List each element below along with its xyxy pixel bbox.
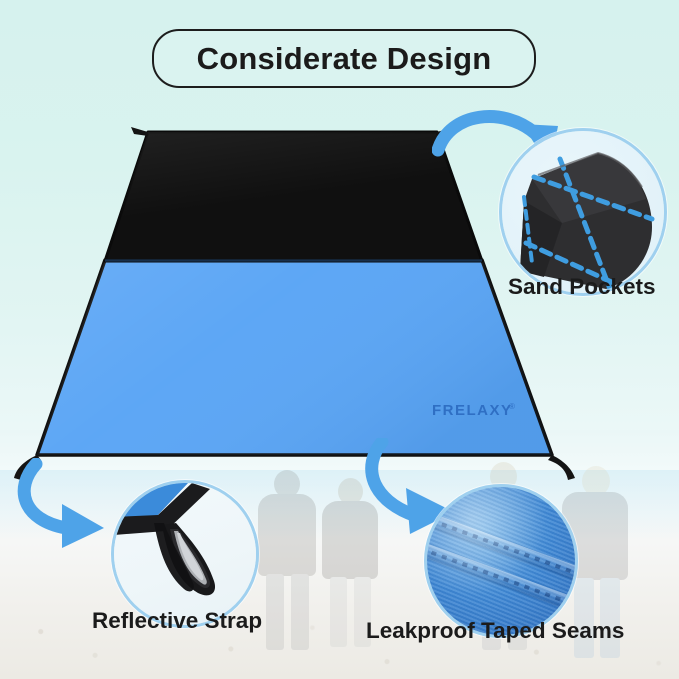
page-title: Considerate Design [197, 41, 492, 77]
corner-tab-bottom-right [548, 455, 575, 480]
reflective-strap-illustration [114, 483, 256, 625]
sand-pocket-illustration [502, 131, 664, 293]
detail-circle-reflective-strap [111, 480, 259, 628]
callout-label-taped-seams: Leakproof Taped Seams [366, 618, 624, 644]
seam-circle-sheen [427, 487, 575, 635]
corner-tab-top-left [131, 127, 148, 136]
callout-label-sand-pockets: Sand Pockets [508, 274, 656, 300]
callout-label-reflective-strap: Reflective Strap [92, 608, 262, 634]
detail-circle-taped-seams [424, 484, 578, 638]
detail-circle-sand-pockets [499, 128, 667, 296]
brand-logo-trademark: ® [509, 402, 515, 411]
brand-logo: FRELAXY [432, 402, 513, 419]
infographic-canvas: Considerate Design FRELAXY ® [0, 0, 679, 679]
page-title-box: Considerate Design [152, 29, 536, 88]
